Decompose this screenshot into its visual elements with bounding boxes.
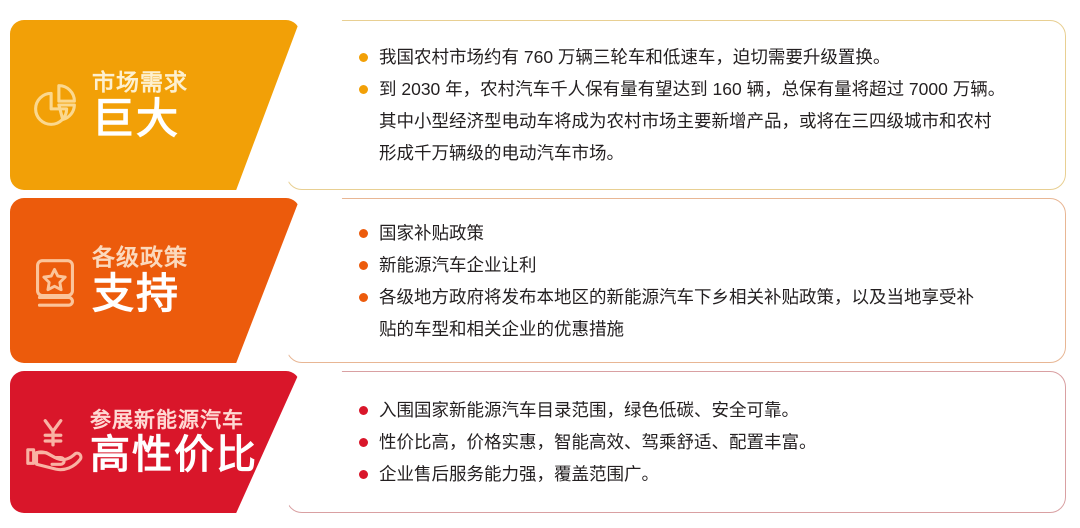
tab-subtitle-market: 市场需求 <box>92 71 188 94</box>
bullet-item: 性价比高，价格实惠，智能高效、驾乘舒适、配置丰富。 <box>359 427 1039 457</box>
label-tab-market-demand: 市场需求 巨大 <box>10 20 300 190</box>
bullet-item: 各级地方政府将发布本地区的新能源汽车下乡相关补贴政策，以及当地享受补 <box>359 282 1039 312</box>
bullet-item: 企业售后服务能力强，覆盖范围广。 <box>359 459 1039 489</box>
block-policy-support: 各级政策 支持 国家补贴政策 新能源汽车企业让利 各级地方政府将发布本地区的新能… <box>0 198 1080 363</box>
bullet-item-continuation: 形成千万辆级的电动汽车市场。 <box>359 138 1039 168</box>
bullet-item-continuation: 其中小型经济型电动车将成为农村市场主要新增产品，或将在三四级城市和农村 <box>359 106 1039 136</box>
book-star-icon <box>24 250 86 312</box>
tab-title-market: 巨大 <box>92 98 188 140</box>
block-cost-performance: 参展新能源汽车 高性价比 入围国家新能源汽车目录范围，绿色低碳、安全可靠。 性价… <box>0 371 1080 513</box>
tab-subtitle-value: 参展新能源汽车 <box>90 410 258 431</box>
label-tab-policy-support: 各级政策 支持 <box>10 198 300 363</box>
hand-yuan-icon <box>22 411 84 473</box>
tab-subtitle-policy: 各级政策 <box>92 246 188 269</box>
infographic-board: 市场需求 巨大 我国农村市场约有 760 万辆三轮车和低速车，迫切需要升级置换。… <box>0 0 1080 528</box>
tab-title-value: 高性价比 <box>90 435 258 475</box>
content-panel-policy: 国家补贴政策 新能源汽车企业让利 各级地方政府将发布本地区的新能源汽车下乡相关补… <box>286 198 1066 363</box>
content-panel-market: 我国农村市场约有 760 万辆三轮车和低速车，迫切需要升级置换。 到 2030 … <box>286 20 1066 190</box>
bullet-item: 我国农村市场约有 760 万辆三轮车和低速车，迫切需要升级置换。 <box>359 42 1039 72</box>
bullet-item: 新能源汽车企业让利 <box>359 250 1039 280</box>
label-tab-text-market: 市场需求 巨大 <box>92 71 188 140</box>
pie-chart-icon <box>24 74 86 136</box>
block-market-demand: 市场需求 巨大 我国农村市场约有 760 万辆三轮车和低速车，迫切需要升级置换。… <box>0 20 1080 190</box>
label-tab-text-policy: 各级政策 支持 <box>92 246 188 315</box>
bullet-item: 入围国家新能源汽车目录范围，绿色低碳、安全可靠。 <box>359 395 1039 425</box>
label-tab-cost-performance: 参展新能源汽车 高性价比 <box>10 371 300 513</box>
bullet-item-continuation: 贴的车型和相关企业的优惠措施 <box>359 314 1039 344</box>
label-tab-text-value: 参展新能源汽车 高性价比 <box>90 410 258 475</box>
tab-title-policy: 支持 <box>92 273 188 315</box>
bullet-item: 国家补贴政策 <box>359 218 1039 248</box>
bullet-item: 到 2030 年，农村汽车千人保有量有望达到 160 辆，总保有量将超过 700… <box>359 74 1039 104</box>
content-panel-value: 入围国家新能源汽车目录范围，绿色低碳、安全可靠。 性价比高，价格实惠，智能高效、… <box>286 371 1066 513</box>
